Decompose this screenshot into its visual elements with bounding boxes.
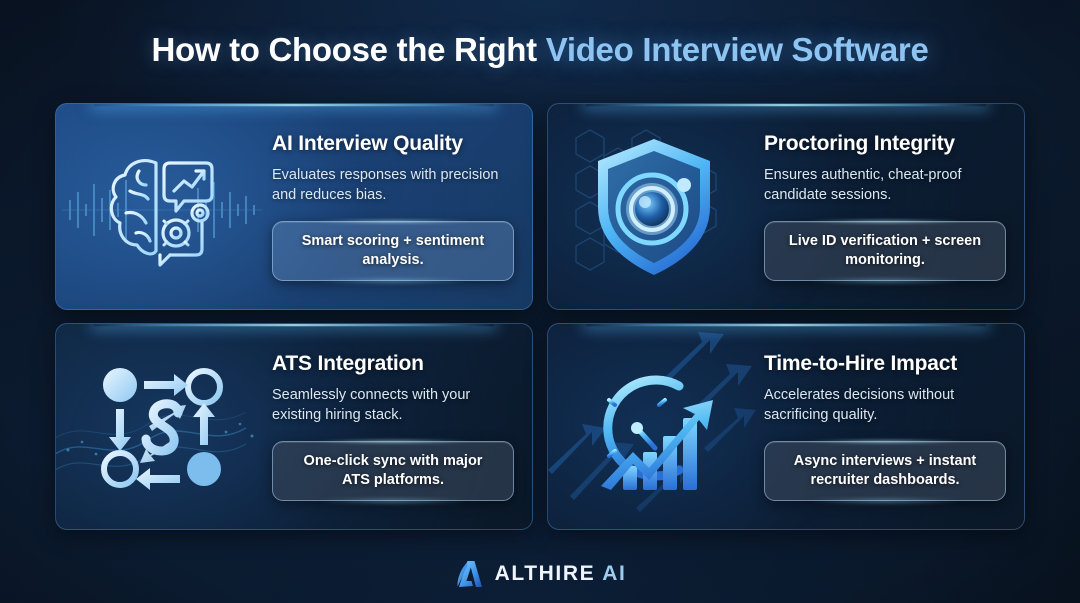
feature-card-time-to-hire-impact[interactable]: Time-to-Hire Impact Accelerates decision… bbox=[547, 323, 1025, 530]
pill-top-glow bbox=[316, 220, 470, 223]
pill-bottom-glow bbox=[813, 499, 957, 503]
pill-bottom-glow bbox=[813, 279, 957, 283]
icon-panel bbox=[56, 104, 268, 309]
card-title: Proctoring Integrity bbox=[764, 132, 1006, 156]
page-title-accent: Video Interview Software bbox=[546, 31, 929, 68]
card-title: ATS Integration bbox=[272, 352, 514, 376]
card-description: Evaluates responses with precision and r… bbox=[272, 165, 514, 205]
feature-card-ai-interview-quality[interactable]: AI Interview Quality Evaluates responses… bbox=[55, 103, 533, 310]
card-description: Ensures authentic, cheat-proof candidate… bbox=[764, 165, 1006, 205]
shield-camera-icon bbox=[584, 133, 724, 281]
card-highlight-label: Smart scoring + sentiment analysis. bbox=[302, 233, 485, 268]
card-top-glow bbox=[586, 324, 986, 326]
infographic-canvas: How to Choose the Right Video Interview … bbox=[0, 0, 1080, 603]
card-content: ATS Integration Seamlessly connects with… bbox=[268, 352, 532, 500]
card-highlight-pill[interactable]: One-click sync with major ATS platforms. bbox=[272, 441, 514, 500]
brain-analytics-icon bbox=[92, 137, 232, 277]
icon-panel bbox=[56, 324, 268, 529]
pill-top-glow bbox=[808, 220, 962, 223]
icon-panel bbox=[548, 324, 760, 529]
feature-card-ats-integration[interactable]: ATS Integration Seamlessly connects with… bbox=[55, 323, 533, 530]
brand-suffix: AI bbox=[602, 562, 626, 585]
footer-branding: ALTHIREAI bbox=[0, 559, 1080, 589]
card-description: Seamlessly connects with your existing h… bbox=[272, 385, 514, 425]
card-content: Proctoring Integrity Ensures authentic, … bbox=[760, 132, 1024, 280]
card-description: Accelerates decisions without sacrificin… bbox=[764, 385, 1006, 425]
card-highlight-pill[interactable]: Async interviews + instant recruiter das… bbox=[764, 441, 1006, 500]
feature-card-proctoring-integrity[interactable]: Proctoring Integrity Ensures authentic, … bbox=[547, 103, 1025, 310]
page-title-white: How to Choose the Right bbox=[151, 31, 545, 68]
card-title: Time-to-Hire Impact bbox=[764, 352, 1006, 376]
card-title: AI Interview Quality bbox=[272, 132, 514, 156]
clock-growth-chart-icon bbox=[579, 356, 729, 498]
card-content: AI Interview Quality Evaluates responses… bbox=[268, 132, 532, 280]
card-top-glow bbox=[94, 104, 494, 106]
pill-bottom-glow bbox=[321, 279, 465, 283]
card-highlight-label: Live ID verification + screen monitoring… bbox=[789, 233, 981, 268]
sync-network-icon bbox=[92, 357, 232, 497]
card-content: Time-to-Hire Impact Accelerates decision… bbox=[760, 352, 1024, 500]
card-top-glow bbox=[94, 324, 494, 326]
card-highlight-label: One-click sync with major ATS platforms. bbox=[304, 453, 483, 488]
feature-card-grid: AI Interview Quality Evaluates responses… bbox=[55, 103, 1025, 530]
brand-name: ALTHIRE bbox=[495, 562, 596, 585]
althire-a-logo-icon bbox=[454, 559, 484, 589]
pill-top-glow bbox=[316, 440, 470, 443]
pill-bottom-glow bbox=[321, 499, 465, 503]
card-top-glow bbox=[586, 104, 986, 106]
card-highlight-pill[interactable]: Smart scoring + sentiment analysis. bbox=[272, 221, 514, 280]
icon-panel bbox=[548, 104, 760, 309]
page-title: How to Choose the Right Video Interview … bbox=[0, 32, 1080, 68]
pill-top-glow bbox=[808, 440, 962, 443]
card-highlight-label: Async interviews + instant recruiter das… bbox=[794, 453, 977, 488]
card-highlight-pill[interactable]: Live ID verification + screen monitoring… bbox=[764, 221, 1006, 280]
